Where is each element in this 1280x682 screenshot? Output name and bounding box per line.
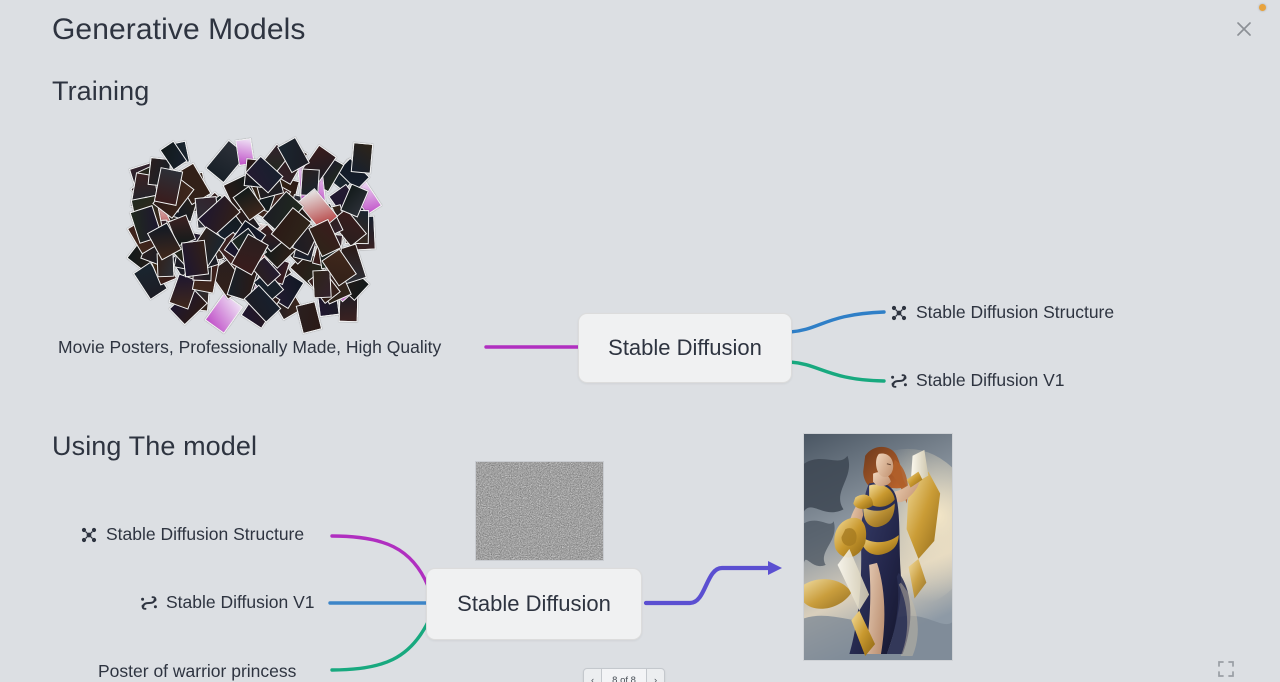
using-model-node[interactable]: Stable Diffusion xyxy=(426,568,642,640)
poster-thumb xyxy=(181,239,209,277)
page-indicator: 8 of 8 xyxy=(601,669,647,682)
noise-texture xyxy=(476,462,604,561)
slide-canvas: Generative Models Training Using The mod… xyxy=(0,0,1280,682)
section-heading-using: Using The model xyxy=(52,431,257,462)
swirl-icon xyxy=(140,594,158,612)
training-model-label: Stable Diffusion xyxy=(608,335,762,361)
arrowhead-output xyxy=(768,561,782,575)
using-model-label: Stable Diffusion xyxy=(457,591,611,617)
prev-page-button[interactable]: ‹ xyxy=(584,669,601,682)
wire-structure-to-model xyxy=(332,536,428,586)
using-input-v1-label: Stable Diffusion V1 xyxy=(166,592,315,613)
node-graph-icon xyxy=(890,304,908,322)
poster-thumb xyxy=(205,293,243,333)
training-dataset-text: Movie Posters, Professionally Made, High… xyxy=(58,337,441,358)
wire-model-to-v1 xyxy=(790,362,884,381)
training-model-node[interactable]: Stable Diffusion xyxy=(578,313,792,383)
close-icon xyxy=(1230,15,1258,43)
training-dataset-image xyxy=(132,141,372,329)
pagination-control[interactable]: ‹ 8 of 8 › xyxy=(583,668,665,682)
section-heading-training: Training xyxy=(52,76,149,107)
page-title: Generative Models xyxy=(52,13,306,47)
using-output-image xyxy=(803,433,953,661)
training-output-v1-label: Stable Diffusion V1 xyxy=(916,370,1065,391)
next-page-button[interactable]: › xyxy=(647,669,664,682)
poster-thumb xyxy=(312,270,331,298)
warrior-princess-illustration xyxy=(804,434,952,660)
fullscreen-button[interactable] xyxy=(1216,659,1236,679)
using-input-structure: Stable Diffusion Structure xyxy=(80,524,304,545)
wire-model-to-output xyxy=(646,568,770,603)
status-dot xyxy=(1259,4,1266,11)
using-input-prompt: Poster of warrior princess xyxy=(98,661,296,682)
close-button[interactable] xyxy=(1230,15,1258,43)
training-output-v1: Stable Diffusion V1 xyxy=(890,370,1065,391)
wire-prompt-to-model xyxy=(332,622,428,670)
using-noise-image xyxy=(475,461,604,561)
swirl-icon xyxy=(890,372,908,390)
poster-thumb xyxy=(350,142,373,174)
fullscreen-icon xyxy=(1216,659,1236,679)
training-output-structure-label: Stable Diffusion Structure xyxy=(916,302,1114,323)
node-graph-icon xyxy=(80,526,98,544)
using-input-structure-label: Stable Diffusion Structure xyxy=(106,524,304,545)
using-input-prompt-label: Poster of warrior princess xyxy=(98,661,296,682)
training-dataset-label: Movie Posters, Professionally Made, High… xyxy=(58,337,441,358)
training-output-structure: Stable Diffusion Structure xyxy=(890,302,1114,323)
wire-model-to-structure xyxy=(790,312,884,332)
using-input-v1: Stable Diffusion V1 xyxy=(140,592,315,613)
